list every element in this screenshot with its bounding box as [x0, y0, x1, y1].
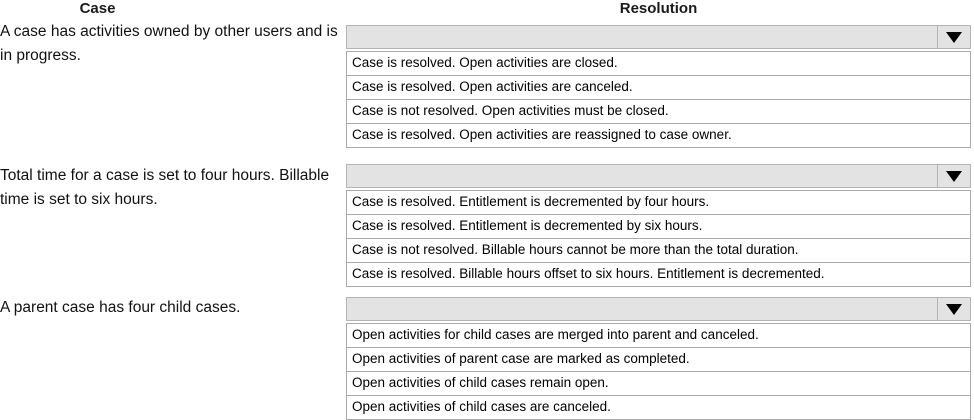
dropdown-option[interactable]: Case is resolved. Entitlement is decreme… — [347, 215, 970, 239]
dropdown-option[interactable]: Case is resolved. Open activities are ca… — [347, 76, 970, 100]
resolution-dropdown-1[interactable] — [346, 164, 971, 188]
column-header-case: Case — [0, 0, 195, 18]
dropdown-toggle-button[interactable] — [937, 298, 970, 320]
resolution-dropdown-group: Case is resolved. Open activities are cl… — [346, 25, 971, 148]
dropdown-option[interactable]: Open activities of child cases remain op… — [347, 372, 970, 396]
case-prompt-text: Total time for a case is set to four hou… — [0, 164, 340, 212]
chevron-down-icon — [946, 304, 962, 315]
column-header-resolution: Resolution — [346, 0, 971, 18]
resolution-dropdown-2[interactable] — [346, 297, 971, 321]
dropdown-toggle-button[interactable] — [937, 26, 970, 48]
dropdown-option-list: Open activities for child cases are merg… — [346, 323, 971, 420]
dropdown-option-list: Case is resolved. Open activities are cl… — [346, 51, 971, 148]
case-prompt-text: A case has activities owned by other use… — [0, 20, 340, 68]
dropdown-toggle-button[interactable] — [937, 165, 970, 187]
case-prompt-text: A parent case has four child cases. — [0, 296, 340, 320]
dropdown-option[interactable]: Case is resolved. Open activities are cl… — [347, 52, 970, 76]
dropdown-option[interactable]: Open activities for child cases are merg… — [347, 324, 970, 348]
chevron-down-icon — [946, 32, 962, 43]
chevron-down-icon — [946, 171, 962, 182]
dropdown-option-list: Case is resolved. Entitlement is decreme… — [346, 190, 971, 287]
dropdown-option[interactable]: Case is not resolved. Open activities mu… — [347, 100, 970, 124]
dropdown-option[interactable]: Case is not resolved. Billable hours can… — [347, 239, 970, 263]
dropdown-option[interactable]: Case is resolved. Open activities are re… — [347, 124, 970, 148]
resolution-dropdown-group: Case is resolved. Entitlement is decreme… — [346, 164, 971, 287]
resolution-dropdown-0[interactable] — [346, 25, 971, 49]
dropdown-option[interactable]: Open activities of parent case are marke… — [347, 348, 970, 372]
dropdown-option[interactable]: Case is resolved. Entitlement is decreme… — [347, 191, 970, 215]
resolution-dropdown-group: Open activities for child cases are merg… — [346, 297, 971, 420]
dropdown-option[interactable]: Case is resolved. Billable hours offset … — [347, 263, 970, 287]
dropdown-option[interactable]: Open activities of child cases are cance… — [347, 396, 970, 420]
